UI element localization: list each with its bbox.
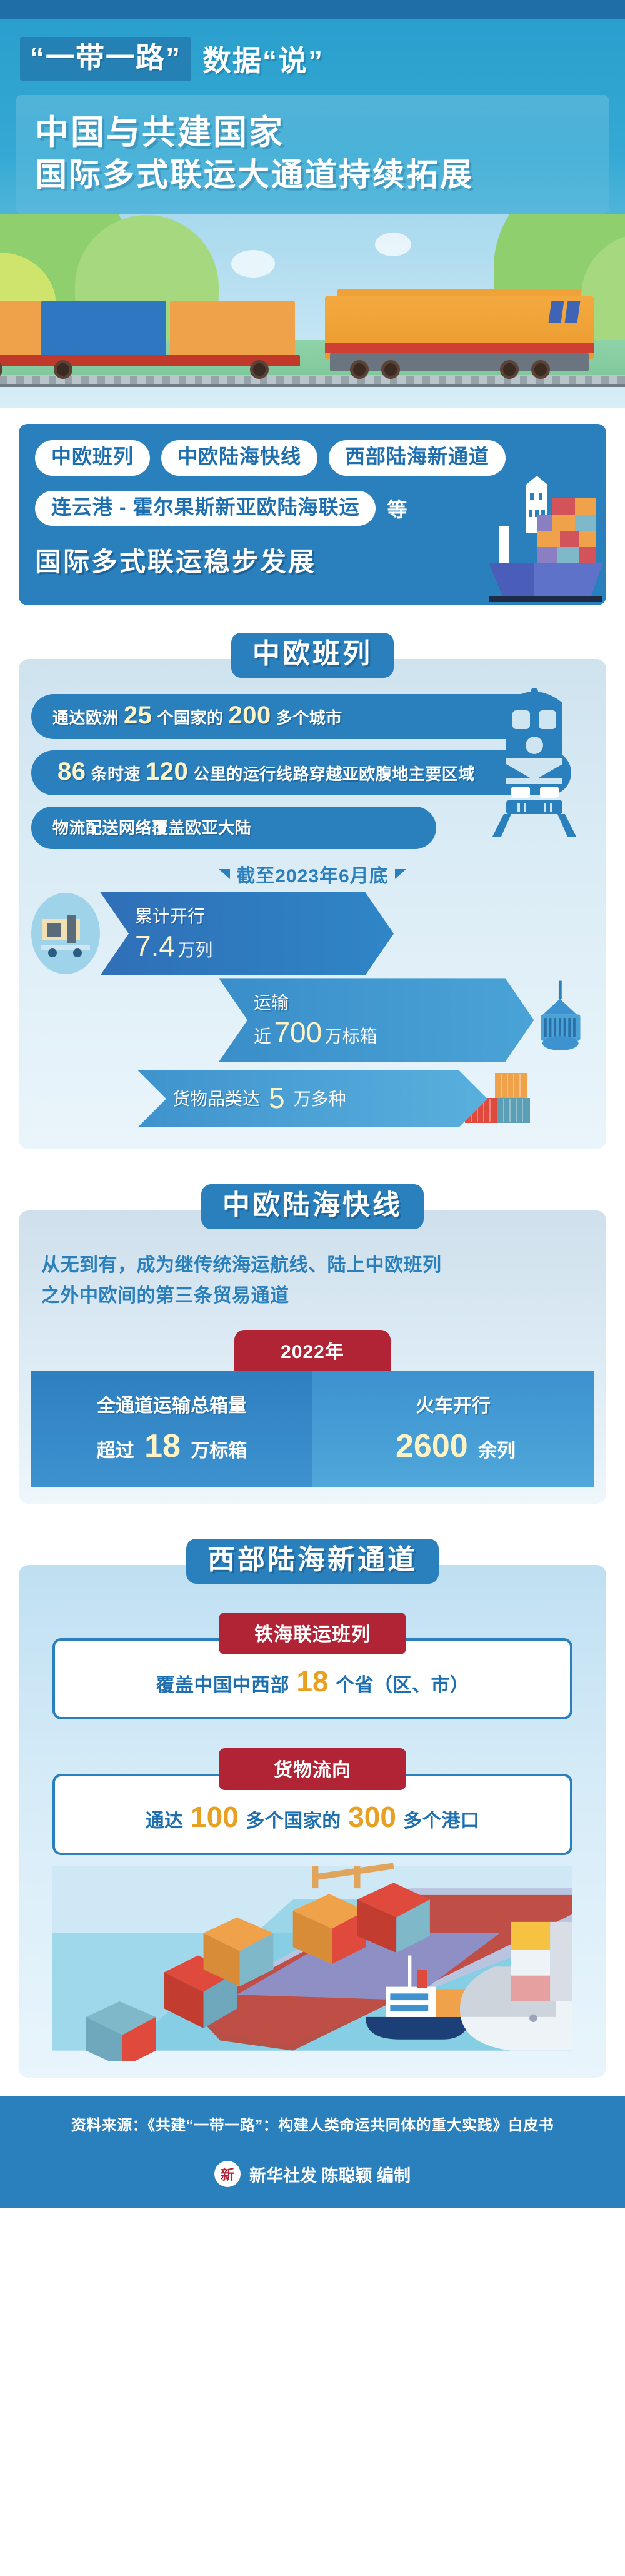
wlc-card-2-post: 多个港口 <box>403 1811 479 1831</box>
as-of-label: 截至2023年6月底 <box>31 860 594 888</box>
section-clh-header: 中欧陆海快线 <box>19 1184 606 1229</box>
as-of-text: 截至2023年6月底 <box>236 860 388 888</box>
header-banner: “一带一路” 数据“说” 中国与共建国家 国际多式联运大通道持续拓展 <box>0 19 625 408</box>
wlc-card-2-value-2: 300 <box>348 1801 396 1833</box>
freight-train-icon <box>0 274 625 380</box>
stat-arrow-row-2: 运输 近 700 万标箱 <box>219 978 594 1062</box>
port-illustration <box>52 1855 572 2061</box>
clh-col-1-unit: 万标箱 <box>191 1441 247 1461</box>
tag-row-1: 中欧班列 中欧陆海快线 西部陆海新通道 <box>35 440 590 475</box>
clh-col-2-cap: 火车开行 <box>324 1390 582 1417</box>
stat-bar-1-num1: 25 <box>124 703 152 728</box>
wlc-card-2-value-1: 100 <box>191 1801 239 1833</box>
section-clh-badge: 中欧陆海快线 <box>201 1184 424 1229</box>
clh-stat-train-runs: 火车开行 2600 余列 <box>312 1371 594 1487</box>
page-title: 中国与共建国家 国际多式联运大通道持续拓展 <box>16 95 609 214</box>
wlc-card-1-value: 18 <box>296 1665 328 1698</box>
stat-bar-2-num2: 120 <box>146 759 188 784</box>
stat-1-unit: 万列 <box>177 940 212 960</box>
stat-arrow-row-3: 货物品类达 5 万多种 <box>137 1064 594 1133</box>
section-wlc-body: 铁海联运班列 覆盖中国中西部 18 个省（区、市） 货物流向 通达 100 多个… <box>19 1565 606 2078</box>
section-wlc-header: 西部陆海新通道 <box>19 1539 606 1584</box>
wlc-card-1-post: 个省（区、市） <box>336 1675 469 1696</box>
train-scene-illustration <box>0 214 625 408</box>
section-cre-badge: 中欧班列 <box>231 633 394 678</box>
locomotive-front-icon <box>487 678 581 840</box>
stat-bar-logistics-network: 物流配送网络覆盖欧亚大陆 <box>31 807 436 849</box>
byline: 新 新华社发 陈聪颖 编制 <box>0 2161 625 2187</box>
clh-stats-columns: 全通道运输总箱量 超过 18 万标箱 火车开行 2600 余列 <box>31 1371 594 1487</box>
xinhua-logo-text: 新 <box>221 2164 234 2184</box>
clh-col-2-unit: 余列 <box>478 1441 516 1461</box>
container-ship-icon <box>459 471 602 605</box>
stat-bar-1-mid: 个国家的 <box>157 705 224 728</box>
stat-bar-2-mid: 条时速 <box>91 762 141 785</box>
stat-bar-1-post: 多个城市 <box>276 705 342 728</box>
stat-arrow-transport-teu: 运输 近 700 万标箱 <box>219 978 534 1062</box>
stat-3-unit: 万多种 <box>294 1085 346 1110</box>
tag-suffix: 等 <box>387 494 407 523</box>
wlc-tab-cargo-flow: 货物流向 <box>219 1748 406 1790</box>
clh-col-1-value: 18 <box>144 1428 181 1464</box>
tags-section: 中欧班列 中欧陆海快线 西部陆海新通道 连云港 - 霍尔果斯新亚欧陆海联运 等 … <box>0 408 625 616</box>
cre-stat-arrows: 累计开行 7.4 万列 运输 近 <box>31 892 594 1133</box>
infographic-page: “一带一路” 数据“说” 中国与共建国家 国际多式联运大通道持续拓展 <box>0 0 625 2208</box>
byline-text: 新华社发 陈聪颖 编制 <box>249 2162 411 2186</box>
wlc-card-1-pre: 覆盖中国中西部 <box>156 1675 289 1696</box>
page-title-line-2: 国际多式联运大通道持续拓展 <box>35 154 590 195</box>
stat-arrow-row-1: 累计开行 7.4 万列 <box>31 892 594 975</box>
clh-col-1-pre: 超过 <box>97 1441 134 1461</box>
section-clh-body: 从无到有，成为继传统海运航线、陆上中欧班列 之外中欧间的第三条贸易通道 2022… <box>19 1210 606 1504</box>
stat-bar-2-num1: 86 <box>57 759 86 784</box>
triangle-left-icon <box>219 869 230 879</box>
footer: 资料来源：《共建“一带一路”：构建人类命运共同体的重大实践》白皮书 新 新华社发… <box>0 2096 625 2208</box>
stat-1-value: 7.4 <box>135 930 175 962</box>
section-china-europe-land-sea-express: 中欧陆海快线 从无到有，成为继传统海运航线、陆上中欧班列 之外中欧间的第三条贸易… <box>0 1168 625 1522</box>
triangle-right-icon <box>395 869 406 879</box>
stat-2-prefix: 近 <box>254 1027 271 1046</box>
section-cre-body: 通达欧洲 25 个国家的 200 多个城市 86 条时速 120 公里的运行线路… <box>19 659 606 1149</box>
stat-bar-1-pre: 通达欧洲 <box>52 705 119 728</box>
kicker-chip: “一带一路” <box>20 37 191 81</box>
kicker-row: “一带一路” 数据“说” <box>0 33 625 85</box>
clh-col-2-value: 2600 <box>396 1428 468 1464</box>
source-note: 资料来源：《共建“一带一路”：构建人类命运共同体的重大实践》白皮书 <box>0 2113 625 2135</box>
tag-pill-lianyungang[interactable]: 连云港 - 霍尔果斯新亚欧陆海联运 <box>35 491 376 526</box>
kicker-rest: 数据“说” <box>202 38 324 79</box>
wlc-card-2-mid: 多个国家的 <box>246 1811 341 1831</box>
tags-box: 中欧班列 中欧陆海快线 西部陆海新通道 连云港 - 霍尔果斯新亚欧陆海联运 等 … <box>19 424 606 605</box>
xinhua-logo-icon: 新 <box>214 2161 241 2187</box>
clh-stat-total-teu: 全通道运输总箱量 超过 18 万标箱 <box>31 1371 312 1487</box>
stat-arrow-cargo-types: 货物品类达 5 万多种 <box>137 1070 487 1127</box>
tag-pill-wlc[interactable]: 西部陆海新通道 <box>329 440 506 475</box>
stat-3-value: 5 <box>269 1081 285 1115</box>
clh-col-1-cap: 全通道运输总箱量 <box>42 1390 301 1417</box>
cargo-train-circle-icon <box>31 893 100 974</box>
section-wlc-badge: 西部陆海新通道 <box>186 1539 439 1584</box>
stat-bar-1-num2: 200 <box>229 703 271 728</box>
section-cre-header: 中欧班列 <box>19 633 606 678</box>
stat-3-label: 货物品类达 <box>172 1085 260 1110</box>
tag-pill-cre[interactable]: 中欧班列 <box>35 440 150 475</box>
clh-lead-line-2: 之外中欧间的第三条贸易通道 <box>31 1280 594 1322</box>
port-ships-containers-icon <box>52 1855 572 2061</box>
stat-2-unit: 万标箱 <box>325 1027 377 1046</box>
stat-bar-countries-cities: 通达欧洲 25 个国家的 200 多个城市 <box>31 694 549 739</box>
stat-arrow-cumulative-trains: 累计开行 7.4 万列 <box>100 892 394 975</box>
year-badge-2022: 2022年 <box>234 1330 391 1371</box>
cloud-icon <box>375 233 411 256</box>
crane-container-icon <box>527 979 594 1060</box>
rail-near <box>0 384 625 387</box>
locomotive-stripe <box>325 343 594 353</box>
tag-pill-clh[interactable]: 中欧陆海快线 <box>161 440 317 475</box>
stat-2-value: 700 <box>274 1016 322 1049</box>
section-china-europe-railway: 中欧班列 通达欧洲 25 个国家的 200 多个城市 86 条时速 120 公里… <box>0 616 625 1168</box>
stat-1-label: 累计开行 <box>135 903 212 928</box>
section-western-land-sea-corridor: 西部陆海新通道 铁海联运班列 覆盖中国中西部 18 个省（区、市） 货物流向 通… <box>0 1522 625 2096</box>
wlc-card-2-pre: 通达 <box>146 1811 184 1831</box>
page-title-line-1: 中国与共建国家 <box>35 111 590 154</box>
stat-2-label: 运输 <box>254 989 377 1014</box>
top-bar <box>0 0 625 19</box>
stat-bar-3-text: 物流配送网络覆盖欧亚大陆 <box>52 815 251 838</box>
stat-bar-2-post: 公里的运行线路穿越亚欧腹地主要区域 <box>193 762 475 785</box>
wlc-tab-rail-sea: 铁海联运班列 <box>219 1613 406 1654</box>
